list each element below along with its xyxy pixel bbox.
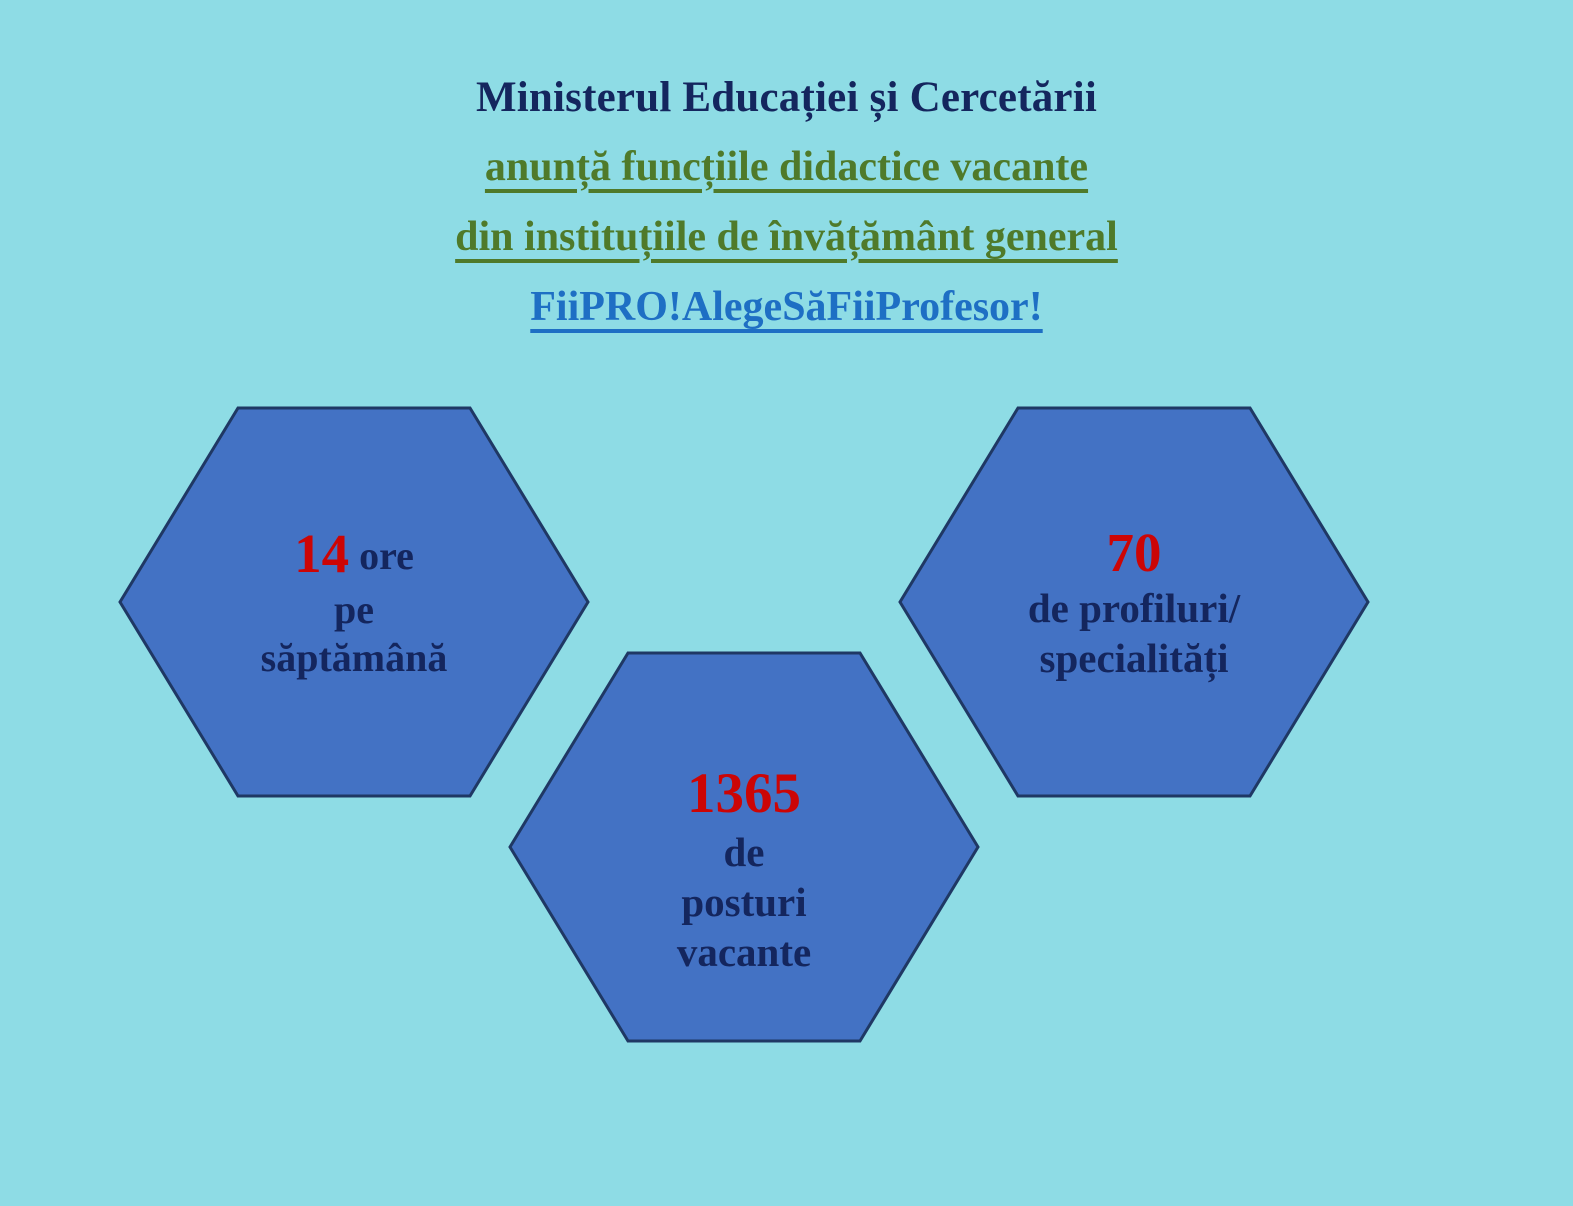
hexagon-profiles-specialities: 70 de profiluri/ specialități [898,406,1370,798]
hexagon-stats-group: 14 ore pe săptămână 1365 de posturi vaca… [0,0,1573,1206]
hexagon-shape-profiles [898,406,1370,798]
